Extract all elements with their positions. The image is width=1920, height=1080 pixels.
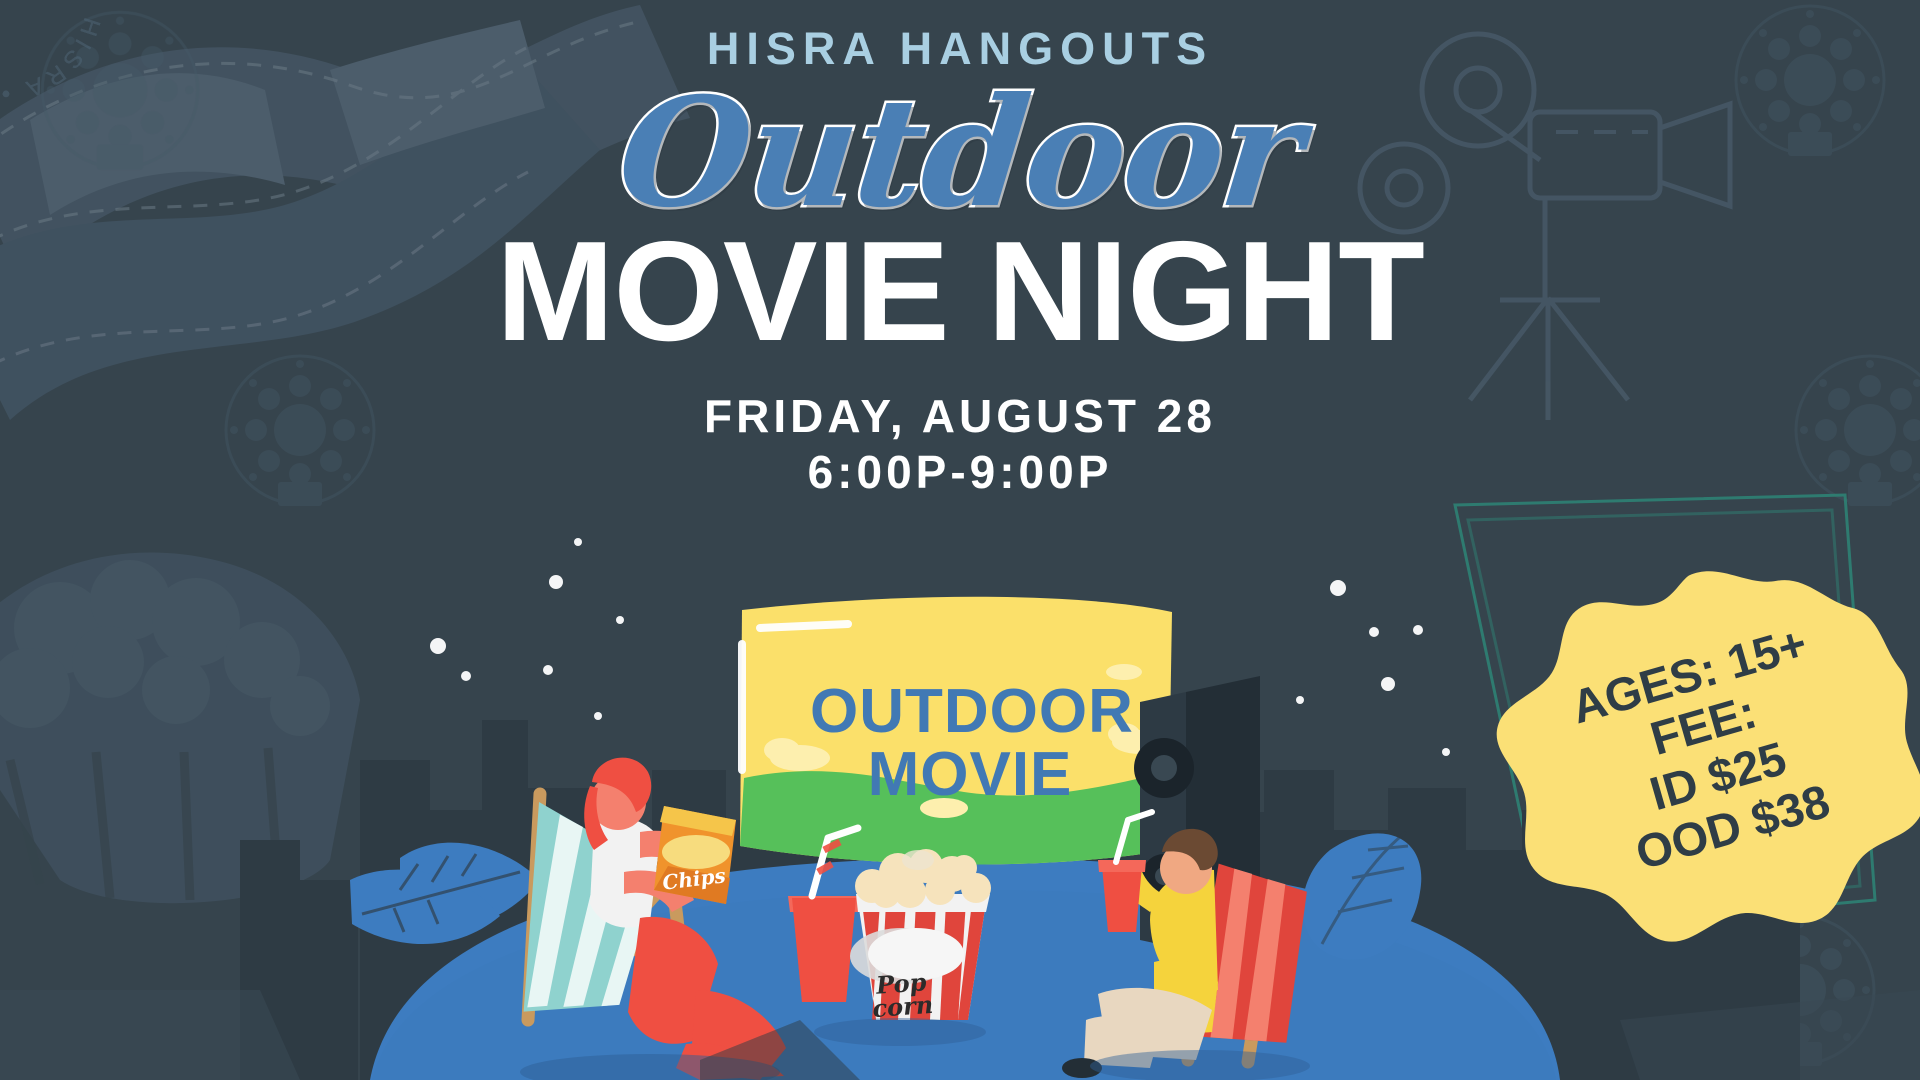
script-word-outdoor: Outdoor	[0, 77, 1920, 230]
price-badge: AGES: 15+ FEE: ID $25 OOD $38	[1476, 545, 1920, 965]
poster-canvas: HISRA • HISRA HISRA • HISRA HISRA • HISR…	[0, 0, 1920, 1080]
screen-line-1: OUTDOOR	[810, 680, 1130, 743]
page-title: MOVIE NIGHT	[0, 224, 1920, 360]
headline-block: HISRA HANGOUTS Outdoor MOVIE NIGHT FRIDA…	[0, 26, 1920, 501]
screen-text: OUTDOOR MOVIE	[810, 680, 1130, 806]
screen-line-2: MOVIE	[810, 743, 1130, 806]
event-time: 6:00P-9:00P	[0, 444, 1920, 500]
event-date: FRIDAY, AUGUST 28	[0, 388, 1920, 444]
popcorn-label: Pop corn	[845, 968, 960, 1022]
